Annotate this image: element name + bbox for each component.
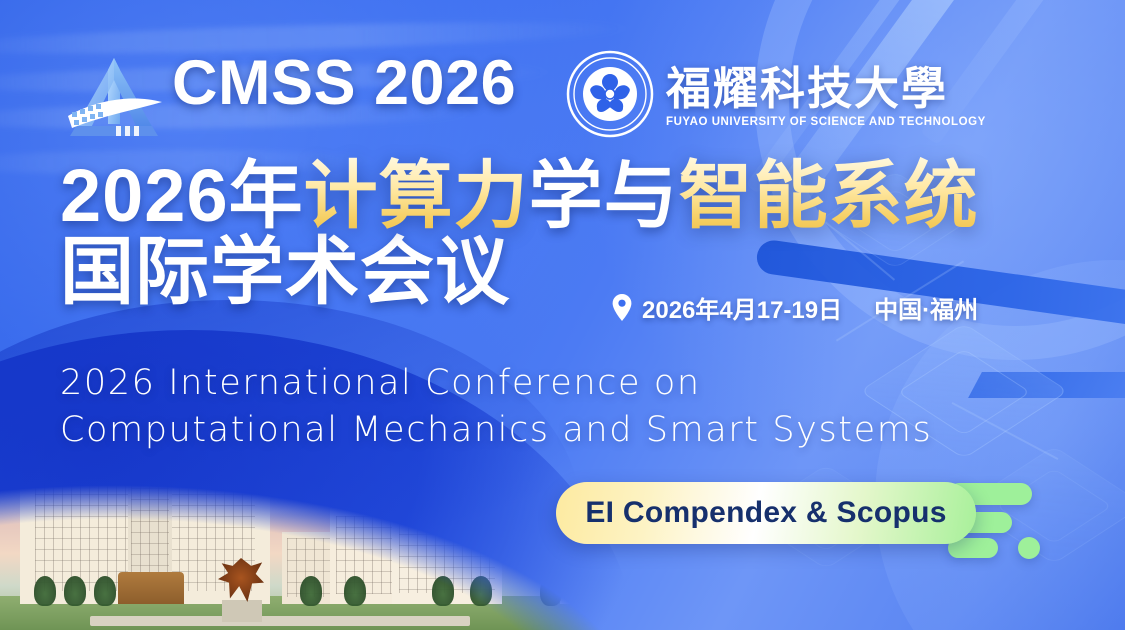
indexing-badge-label: EI Compendex & Scopus xyxy=(585,496,946,530)
conference-title-en: 2026 International Conference on Computa… xyxy=(60,360,932,455)
event-date: 2026年4月17-19日 xyxy=(642,290,842,325)
conference-banner: CMSS 2026 福耀科技大學 FUYAO UNIVERSITY OF SCI… xyxy=(0,0,1125,630)
title-segment-mechanics-and: 学与 xyxy=(529,154,679,237)
event-meta: 2026年4月17-19日 中国·福州 xyxy=(612,290,978,325)
title-segment-computational: 计算力 xyxy=(304,154,529,237)
english-title-line2: Computational Mechanics and Smart System… xyxy=(60,407,932,454)
university-name-en: FUYAO UNIVERSITY OF SCIENCE AND TECHNOLO… xyxy=(666,116,986,128)
conference-acronym: CMSS 2026 xyxy=(172,52,516,115)
indexing-badge: EI Compendex & Scopus xyxy=(556,482,976,544)
event-location: 中国·福州 xyxy=(874,290,978,325)
badge-accent-dot xyxy=(1018,537,1040,559)
english-title-line1: 2026 International Conference on xyxy=(60,360,932,407)
university-name-cn: 福耀科技大學 xyxy=(666,67,986,112)
university-logo-lockup: 福耀科技大學 FUYAO UNIVERSITY OF SCIENCE AND T… xyxy=(566,50,986,138)
location-pin-icon xyxy=(612,294,632,321)
conference-title-cn: 2026年计算力学与智能系统 国际学术会议 xyxy=(60,158,979,310)
title-segment-smart-systems: 智能系统 xyxy=(679,154,979,237)
cmss-triangle-wave-logo xyxy=(58,50,170,148)
fuyao-university-seal-icon xyxy=(566,50,654,138)
title-segment-year: 2026年 xyxy=(60,154,304,237)
